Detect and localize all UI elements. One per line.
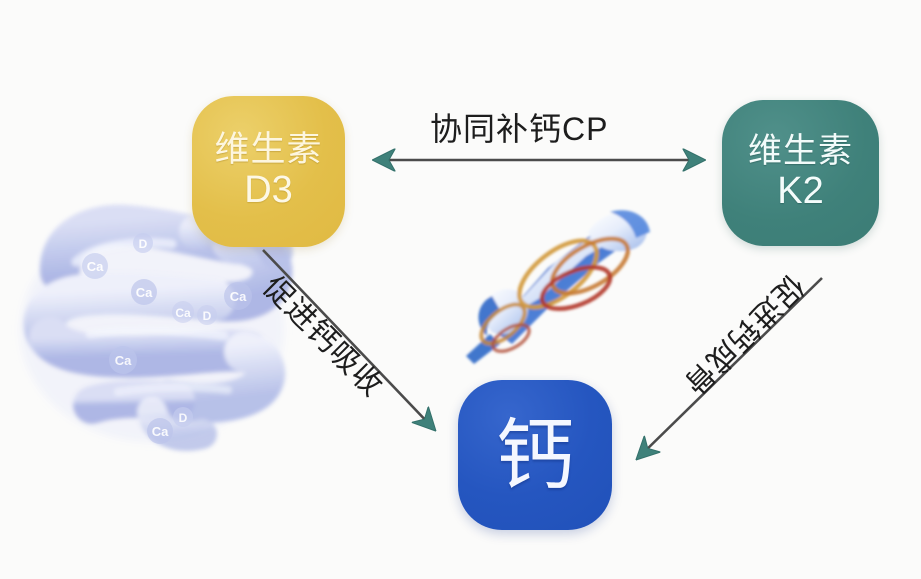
intestine-coils xyxy=(20,218,284,442)
svg-text:D: D xyxy=(179,411,188,425)
node-vitamin-d3[interactable]: 维生素 D3 xyxy=(192,96,345,247)
intestine-molecule-labels: Ca D Ca Ca Ca D Ca D Ca xyxy=(82,233,252,444)
node-vitamin-d3-line1: 维生素 xyxy=(214,132,322,169)
node-calcium[interactable]: 钙 xyxy=(458,380,612,530)
svg-text:Ca: Ca xyxy=(87,259,104,274)
node-vitamin-d3-line2: D3 xyxy=(244,171,293,211)
svg-text:D: D xyxy=(203,309,212,323)
diagram-canvas: Ca D Ca Ca Ca D Ca D Ca xyxy=(0,0,921,579)
node-calcium-line1: 钙 xyxy=(496,416,574,494)
svg-text:Ca: Ca xyxy=(175,306,191,320)
svg-text:Ca: Ca xyxy=(152,424,169,439)
node-vitamin-k2[interactable]: 维生素 K2 xyxy=(722,100,879,246)
node-vitamin-k2-line1: 维生素 xyxy=(748,134,853,170)
svg-text:Ca: Ca xyxy=(136,285,153,300)
svg-text:Ca: Ca xyxy=(230,289,247,304)
arrow-right-label: 促进钙成骨 xyxy=(675,267,816,408)
node-vitamin-k2-line2: K2 xyxy=(777,172,823,212)
arrow-top-label: 协同补钙CP xyxy=(430,104,608,150)
bone-graphic xyxy=(466,210,650,364)
svg-text:D: D xyxy=(139,237,148,251)
svg-text:Ca: Ca xyxy=(115,353,132,368)
arrow-left-label: 促进钙吸收 xyxy=(255,264,396,405)
